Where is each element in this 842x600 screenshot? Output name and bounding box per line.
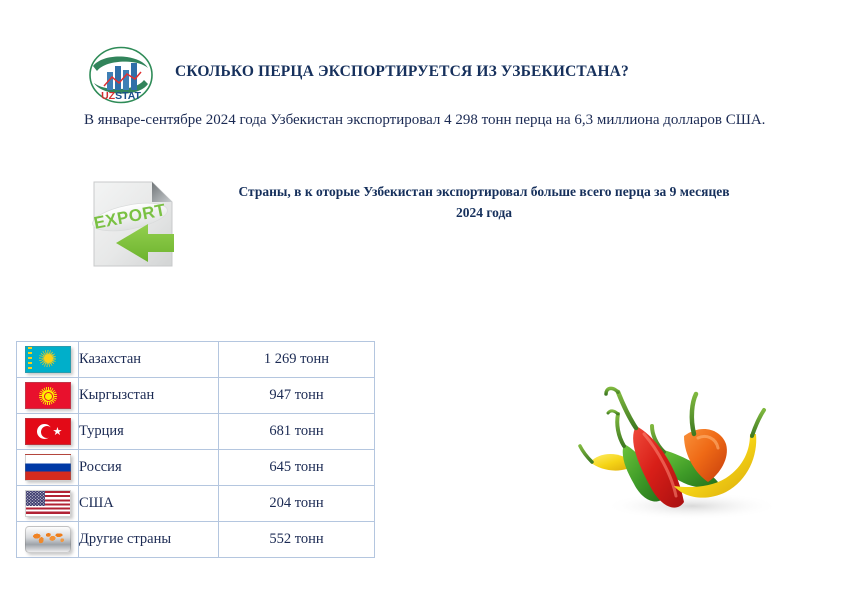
section-heading-line1: Страны, в к оторые Узбекистан экспортиро…	[238, 184, 729, 199]
section-heading: Страны, в к оторые Узбекистан экспортиро…	[193, 182, 775, 224]
table-row: Другие страны 552 тонн	[17, 522, 375, 558]
chili-peppers-photo	[560, 372, 825, 532]
flag-cell	[17, 522, 79, 558]
page-title: СКОЛЬКО ПЕРЦА ЭКСПОРТИРУЕТСЯ ИЗ УЗБЕКИСТ…	[175, 62, 775, 81]
country-tonnage: 204 тонн	[219, 486, 375, 522]
flag-cell	[17, 450, 79, 486]
svg-text:UZSTAT: UZSTAT	[101, 90, 141, 102]
flag-usa	[25, 490, 71, 517]
export-countries-table: Казахстан 1 269 тонн Кыргызстан 947 тонн…	[16, 341, 375, 558]
country-tonnage: 681 тонн	[219, 414, 375, 450]
table-row: Казахстан 1 269 тонн	[17, 342, 375, 378]
flag-kyrgyzstan	[25, 382, 71, 409]
world-map-icon	[25, 526, 71, 553]
country-name: США	[79, 486, 219, 522]
flag-cell	[17, 342, 79, 378]
section-heading-line2: 2024 года	[456, 205, 512, 220]
uzstat-logo: UZSTAT	[88, 46, 154, 104]
country-name: Россия	[79, 450, 219, 486]
flag-turkey: ★	[25, 418, 71, 445]
uzstat-logo-graphic: UZSTAT	[88, 46, 154, 104]
export-document-icon-graphic: EXPORT	[86, 176, 190, 274]
lead-paragraph: В январе-сентябре 2024 года Узбекистан э…	[84, 112, 814, 129]
table-row: ★ Турция 681 тонн	[17, 414, 375, 450]
export-document-icon: EXPORT	[86, 176, 190, 274]
table-row: Кыргызстан 947 тонн	[17, 378, 375, 414]
country-name: Другие страны	[79, 522, 219, 558]
country-name: Турция	[79, 414, 219, 450]
flag-cell	[17, 378, 79, 414]
country-tonnage: 645 тонн	[219, 450, 375, 486]
chili-peppers-graphic	[560, 372, 825, 532]
country-name: Кыргызстан	[79, 378, 219, 414]
flag-russia	[25, 454, 71, 481]
table-row: Россия 645 тонн	[17, 450, 375, 486]
flag-kazakhstan	[25, 346, 71, 373]
country-tonnage: 552 тонн	[219, 522, 375, 558]
country-tonnage: 947 тонн	[219, 378, 375, 414]
table-row: США 204 тонн	[17, 486, 375, 522]
country-name: Казахстан	[79, 342, 219, 378]
flag-cell	[17, 486, 79, 522]
flag-cell: ★	[17, 414, 79, 450]
country-tonnage: 1 269 тонн	[219, 342, 375, 378]
